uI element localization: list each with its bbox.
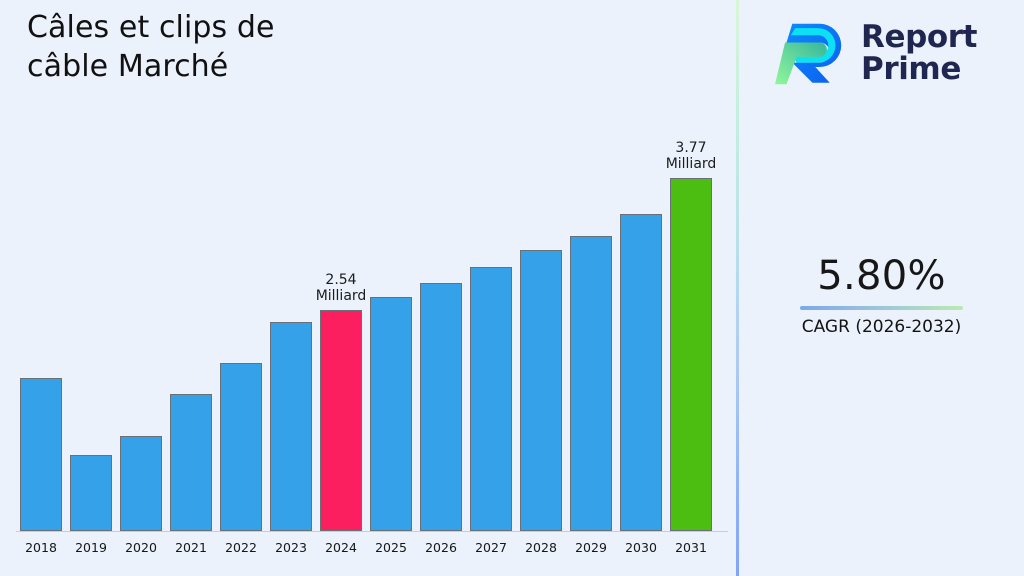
- bar-2030[interactable]: [620, 214, 662, 531]
- cagr-block: 5.80% CAGR (2026-2032): [739, 252, 1024, 338]
- chart-panel: Câles et clips de câble Marché 201820192…: [0, 0, 737, 576]
- report-prime-logo[interactable]: Report Prime: [775, 14, 1003, 94]
- x-tick-2031: 2031: [661, 540, 721, 555]
- chart-canvas: Câles et clips de câble Marché 201820192…: [0, 0, 1024, 576]
- bar-2029[interactable]: [570, 236, 612, 531]
- bar-2020[interactable]: [120, 436, 162, 531]
- bar-2027[interactable]: [470, 267, 512, 531]
- bar-2025[interactable]: [370, 297, 412, 531]
- report-prime-logo-icon: [775, 18, 847, 90]
- bar-2026[interactable]: [420, 283, 462, 531]
- bar-chart-plot: 2018201920202021202220232.54 Milliard202…: [0, 0, 737, 576]
- bar-2019[interactable]: [70, 455, 112, 531]
- chart-baseline: [16, 531, 728, 532]
- cagr-caption: CAGR (2026-2032): [739, 316, 1024, 338]
- brand-panel: Report Prime 5.80% CAGR (2026-2032): [739, 0, 1024, 576]
- bar-2022[interactable]: [220, 363, 262, 531]
- bar-2028[interactable]: [520, 250, 562, 531]
- brand-name: Report Prime: [861, 22, 977, 85]
- bar-2018[interactable]: [20, 378, 62, 531]
- cagr-divider-rule: [800, 306, 963, 310]
- bar-2031[interactable]: [670, 178, 712, 531]
- bar-2024[interactable]: [320, 310, 362, 531]
- bar-value-label-2031: 3.77 Milliard: [631, 140, 751, 172]
- bar-2021[interactable]: [170, 394, 212, 531]
- bar-2023[interactable]: [270, 322, 312, 531]
- cagr-value: 5.80%: [739, 252, 1024, 300]
